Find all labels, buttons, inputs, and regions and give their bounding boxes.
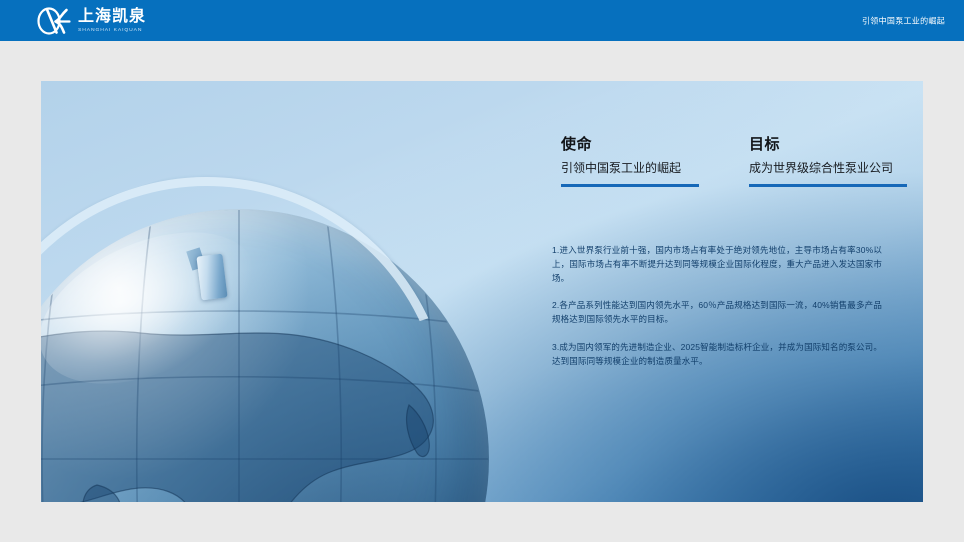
goal-block: 目标 成为世界级综合性泵业公司 — [749, 136, 909, 187]
objective-paragraph: 1.进入世界泵行业前十强，国内市场占有率处于绝对领先地位，主导市场占有率30%以… — [552, 244, 882, 285]
brand-name-en: SHANGHAI KAIQUAN — [78, 28, 146, 33]
mission-block: 使命 引领中国泵工业的崛起 — [561, 136, 721, 187]
brand-wordmark: 上海凯泉 SHANGHAI KAIQUAN — [78, 9, 146, 33]
slide-content-column: 使命 引领中国泵工业的崛起 目标 成为世界级综合性泵业公司 1.进入世界泵行业前… — [519, 81, 923, 502]
goal-title: 目标 — [749, 136, 909, 154]
mission-title: 使命 — [561, 136, 721, 154]
objective-paragraph: 2.各产品系列性能达到国内领先水平，60％产品规格达到国际一流，40%销售最多产… — [552, 299, 882, 327]
heading-row: 使命 引领中国泵工业的崛起 目标 成为世界级综合性泵业公司 — [561, 136, 909, 187]
kaiquan-monogram-icon — [36, 6, 72, 36]
brand-name-cn: 上海凯泉 — [78, 9, 146, 25]
crystal-globe-image — [41, 81, 561, 502]
goal-underline — [749, 184, 907, 187]
objective-paragraph: 3.成为国内领军的先进制造企业、2025智能制造标杆企业，并成为国际知名的泵公司… — [552, 341, 882, 369]
objective-paragraph-list: 1.进入世界泵行业前十强，国内市场占有率处于绝对领先地位，主导市场占有率30%以… — [552, 244, 882, 368]
slide-card: 使命 引领中国泵工业的崛起 目标 成为世界级综合性泵业公司 1.进入世界泵行业前… — [41, 81, 923, 502]
mission-subtitle: 引领中国泵工业的崛起 — [561, 161, 721, 176]
app-header-bar: 上海凯泉 SHANGHAI KAIQUAN 引领中国泵工业的崛起 — [0, 0, 964, 41]
mission-underline — [561, 184, 699, 187]
goal-subtitle: 成为世界级综合性泵业公司 — [749, 161, 909, 176]
brand-logo[interactable]: 上海凯泉 SHANGHAI KAIQUAN — [36, 4, 146, 38]
globe-axis-cap — [196, 254, 227, 301]
header-tagline: 引领中国泵工业的崛起 — [862, 15, 945, 26]
